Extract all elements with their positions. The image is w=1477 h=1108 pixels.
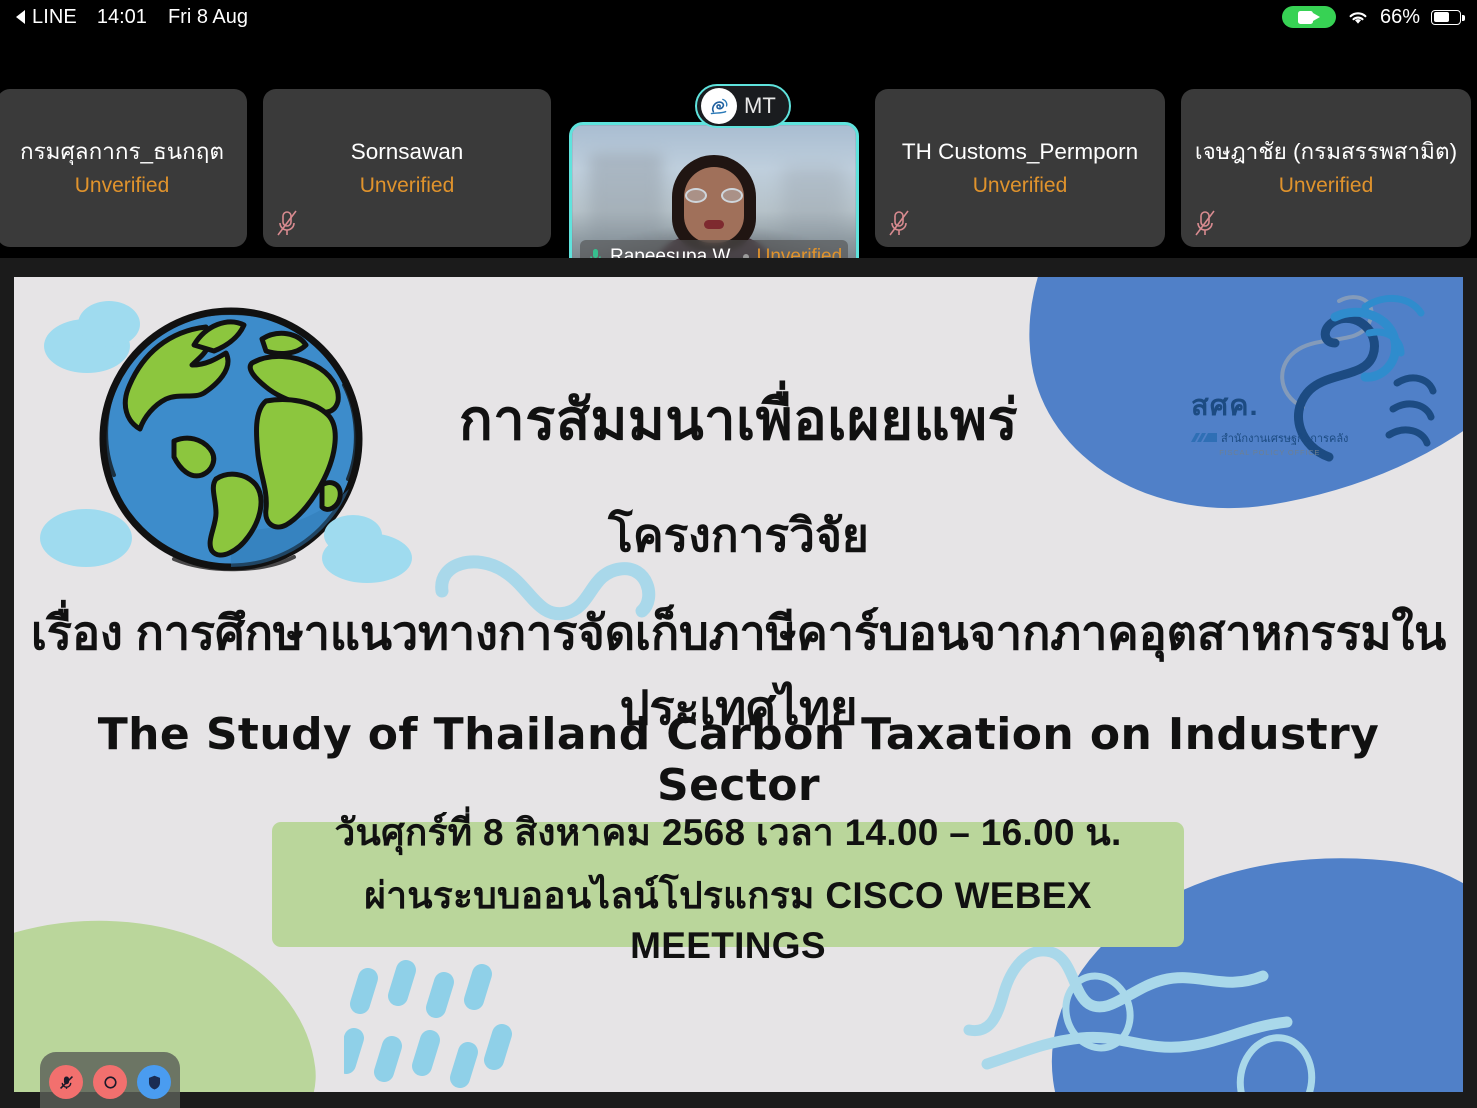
back-app-label[interactable]: LINE xyxy=(32,6,77,29)
participant-name: กรมศุลกากร_ธนกฤต xyxy=(12,138,232,166)
participant-strip: กรมศุลกากร_ธนกฤต Unverified Sornsawan Un… xyxy=(0,34,1477,258)
presentation-slide[interactable]: สศค. สำนักงานเศรษฐกิจการคลัง FISCAL POLI… xyxy=(14,277,1463,1092)
meeting-control-bar xyxy=(40,1052,180,1108)
decorative-ring-1 xyxy=(1051,962,1144,1061)
status-badge: Unverified xyxy=(75,174,170,198)
participant-tile-5[interactable]: เจษฎาชัย (กรมสรรพสามิต) Unverified xyxy=(1181,89,1471,247)
schedule-platform-line: ผ่านระบบออนไลน์โปรแกรม CISCO WEBEX MEETI… xyxy=(272,866,1184,967)
meeting-host-logo-icon xyxy=(701,88,737,124)
wifi-icon xyxy=(1347,9,1369,26)
security-shield-button[interactable] xyxy=(137,1065,171,1099)
slide-heading-english: The Study of Thailand Carbon Taxation on… xyxy=(14,709,1463,811)
participant-tile-1[interactable]: กรมศุลกากร_ธนกฤต Unverified xyxy=(0,89,247,247)
status-bar: LINE 14:01 Fri 8 Aug 66% xyxy=(0,0,1477,34)
mute-microphone-button[interactable] xyxy=(49,1065,83,1099)
battery-percent-label: 66% xyxy=(1380,6,1420,29)
slide-heading-1: การสัมมนาเพื่อเผยแพร่ xyxy=(14,375,1463,464)
status-badge: Unverified xyxy=(1279,174,1374,198)
video-camera-active-icon xyxy=(1282,6,1336,28)
schedule-date-line: วันศุกร์ที่ 8 สิงหาคม 2568 เวลา 14.00 – … xyxy=(334,803,1121,862)
slide-heading-2: โครงการวิจัย xyxy=(14,499,1463,572)
microphone-muted-icon xyxy=(1194,210,1216,238)
microphone-muted-icon xyxy=(276,210,298,238)
shared-content-stage: สศค. สำนักงานเศรษฐกิจการคลัง FISCAL POLI… xyxy=(0,258,1477,1108)
meeting-host-label: MT xyxy=(744,93,776,119)
stop-video-button[interactable] xyxy=(93,1065,127,1099)
participant-name: เจษฎาชัย (กรมสรรพสามิต) xyxy=(1187,138,1465,166)
battery-icon xyxy=(1431,10,1461,25)
status-bar-time: 14:01 xyxy=(97,6,147,29)
participant-name: TH Customs_Permporn xyxy=(894,138,1146,166)
slide-schedule-box: วันศุกร์ที่ 8 สิงหาคม 2568 เวลา 14.00 – … xyxy=(272,822,1184,947)
status-bar-right: 66% xyxy=(1282,6,1461,29)
participant-name: Sornsawan xyxy=(343,138,472,166)
microphone-muted-icon xyxy=(888,210,910,238)
status-badge: Unverified xyxy=(360,174,455,198)
decorative-ring-2 xyxy=(1230,1028,1323,1092)
participant-tile-2[interactable]: Sornsawan Unverified xyxy=(263,89,551,247)
back-triangle-icon[interactable] xyxy=(16,10,25,24)
meeting-host-badge[interactable]: MT xyxy=(695,84,791,128)
status-badge: Unverified xyxy=(973,174,1068,198)
status-bar-date: Fri 8 Aug xyxy=(168,6,248,29)
participant-tile-4[interactable]: TH Customs_Permporn Unverified xyxy=(875,89,1165,247)
status-bar-left: LINE 14:01 Fri 8 Aug xyxy=(16,6,248,29)
